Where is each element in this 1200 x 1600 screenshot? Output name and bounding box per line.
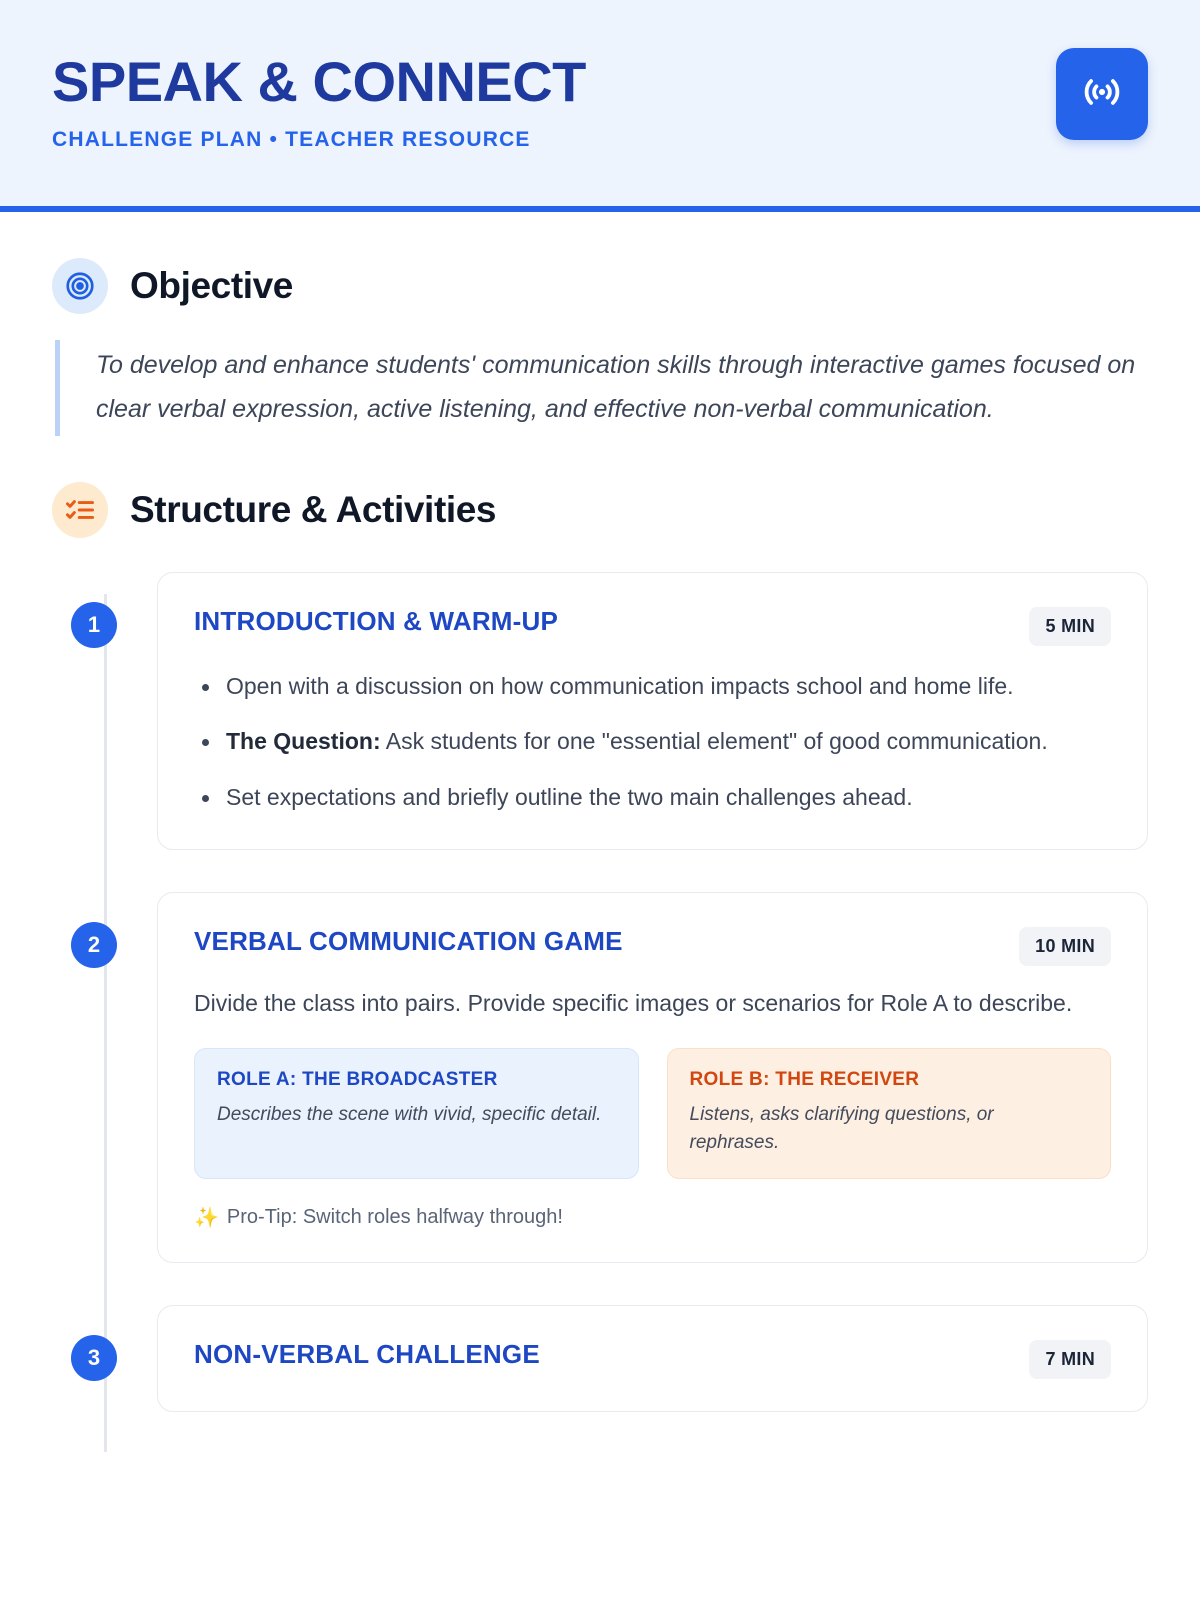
bullet-lead: The Question: [226,728,381,754]
activity-title: NON-VERBAL CHALLENGE [194,1340,540,1370]
activity-title: INTRODUCTION & WARM-UP [194,607,558,637]
structure-heading: Structure & Activities [130,489,496,531]
activity-card-header: INTRODUCTION & WARM-UP 5 MIN [194,607,1111,646]
broadcast-icon-button[interactable] [1056,48,1148,140]
activity-card-header: NON-VERBAL CHALLENGE 7 MIN [194,1340,1111,1379]
duration-badge: 5 MIN [1029,607,1111,646]
objective-heading: Objective [130,265,293,307]
header-text-group: SPEAK & CONNECT CHALLENGE PLAN • TEACHER… [52,48,586,152]
activity-title: VERBAL COMMUNICATION GAME [194,927,623,957]
pro-tip-text: Pro-Tip: Switch roles halfway through! [227,1206,563,1229]
bullet-text: Set expectations and briefly outline the… [226,784,913,810]
activity-step: 3 NON-VERBAL CHALLENGE 7 MIN [157,1305,1148,1412]
pro-tip: ✨ Pro-Tip: Switch roles halfway through! [194,1205,1111,1230]
list-item: The Question: Ask students for one "esse… [194,723,1111,761]
activity-bullet-list: Open with a discussion on how communicat… [194,668,1111,818]
step-number-badge: 2 [71,922,117,968]
step-number-badge: 3 [71,1335,117,1381]
activities-timeline: 1 INTRODUCTION & WARM-UP 5 MIN Open with… [52,572,1148,1413]
activity-card[interactable]: VERBAL COMMUNICATION GAME 10 MIN Divide … [157,892,1148,1263]
page-title: SPEAK & CONNECT [52,54,586,110]
role-b-text: Listens, asks clarifying questions, or r… [690,1101,1089,1156]
target-icon [52,258,108,314]
list-item: Open with a discussion on how communicat… [194,668,1111,706]
step-number-badge: 1 [71,602,117,648]
activity-description: Divide the class into pairs. Provide spe… [194,986,1111,1022]
role-a-text: Describes the scene with vivid, specific… [217,1101,616,1129]
activity-step: 2 VERBAL COMMUNICATION GAME 10 MIN Divid… [157,892,1148,1263]
structure-section-header: Structure & Activities [52,482,1148,538]
activity-step: 1 INTRODUCTION & WARM-UP 5 MIN Open with… [157,572,1148,851]
page-content: Objective To develop and enhance student… [0,258,1200,1412]
activity-card[interactable]: INTRODUCTION & WARM-UP 5 MIN Open with a… [157,572,1148,851]
bullet-text: Ask students for one "essential element"… [381,728,1048,754]
activity-card-header: VERBAL COMMUNICATION GAME 10 MIN [194,927,1111,966]
role-a-label: ROLE A: THE BROADCASTER [217,1069,616,1091]
checklist-icon [52,482,108,538]
role-boxes: ROLE A: THE BROADCASTER Describes the sc… [194,1048,1111,1179]
sparkles-icon: ✨ [194,1205,219,1230]
page-subtitle: CHALLENGE PLAN • TEACHER RESOURCE [52,128,586,152]
duration-badge: 7 MIN [1029,1340,1111,1379]
role-a-box: ROLE A: THE BROADCASTER Describes the sc… [194,1048,639,1179]
list-item: Set expectations and briefly outline the… [194,779,1111,817]
page-header: SPEAK & CONNECT CHALLENGE PLAN • TEACHER… [0,0,1200,212]
broadcast-icon [1079,69,1125,120]
bullet-text: Open with a discussion on how communicat… [226,673,1014,699]
role-b-label: ROLE B: THE RECEIVER [690,1069,1089,1091]
role-b-box: ROLE B: THE RECEIVER Listens, asks clari… [667,1048,1112,1179]
objective-section-header: Objective [52,258,1148,314]
duration-badge: 10 MIN [1019,927,1111,966]
activity-card[interactable]: NON-VERBAL CHALLENGE 7 MIN [157,1305,1148,1412]
objective-text: To develop and enhance students' communi… [55,340,1145,436]
timeline-rail [104,594,107,1453]
